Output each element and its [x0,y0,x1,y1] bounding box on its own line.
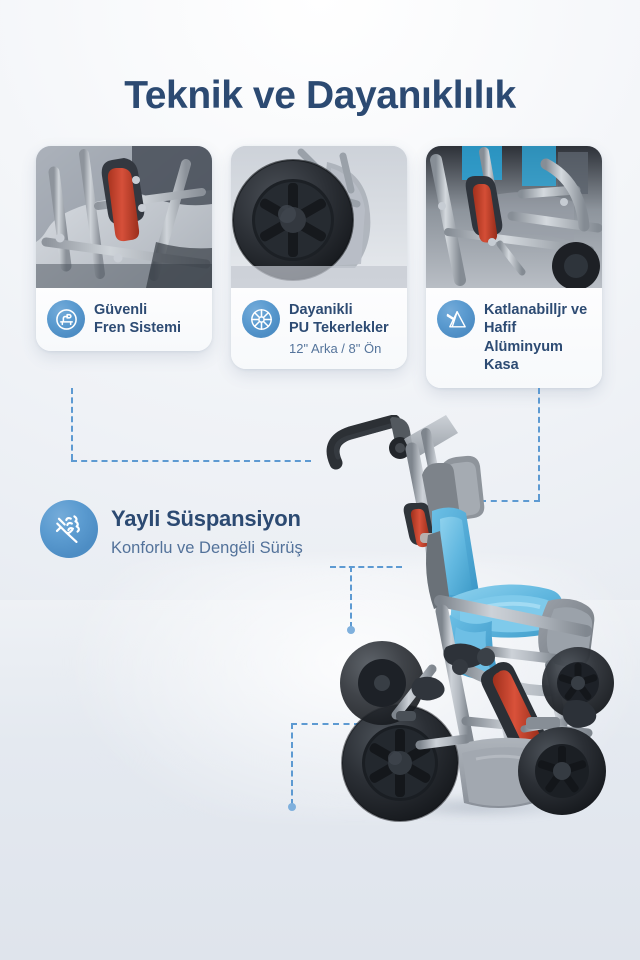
feature-card-wheels[interactable]: Dayanikli PU Tekerlekler 12" Arka / 8" Ö… [231,146,407,369]
feature-photo-wheels [231,146,407,288]
feature-photo-brake [36,146,212,288]
brake-pedal-icon [47,300,85,338]
feature-card-brake[interactable]: Güvenli Fren Sistemi [36,146,212,351]
feature-label: Katlanabilljr ve Hafif Alüminyum Kasa [484,301,591,375]
callout-suspension[interactable]: Yayli Süspansiyon Konforlu ve Dengëli Sü… [40,500,303,558]
callout-title: Yayli Süspansiyon [111,506,303,532]
connector-wheel-endpoint [288,803,296,811]
spring-suspension-icon [40,500,98,558]
feature-body-frame: Katlanabilljr ve Hafif Alüminyum Kasa [426,288,602,388]
connector-card-brake-horizontal [71,460,311,462]
feature-body-brake: Güvenli Fren Sistemi [36,288,212,351]
feature-label: Güvenli Fren Sistemi [94,301,181,338]
page-title: Teknik ve Dayanıklılık [0,74,640,118]
feature-photo-frame [426,146,602,288]
infographic-page: Teknik ve Dayanıklılık [0,0,640,960]
feature-card-frame[interactable]: Katlanabilljr ve Hafif Alüminyum Kasa [426,146,602,388]
folding-frame-icon [437,300,475,338]
connector-card-brake-vertical [71,388,73,460]
feature-label: Dayanikli PU Tekerlekler [289,301,389,338]
spoked-wheel-icon [242,300,280,338]
feature-body-wheels: Dayanikli PU Tekerlekler 12" Arka / 8" Ö… [231,288,407,369]
feature-sublabel: 12" Arka / 8" Ön [289,341,389,356]
product-image [300,415,630,830]
connector-wheel-vertical [291,723,293,805]
callout-subtitle: Konforlu ve Dengëli Sürüş [111,539,303,558]
